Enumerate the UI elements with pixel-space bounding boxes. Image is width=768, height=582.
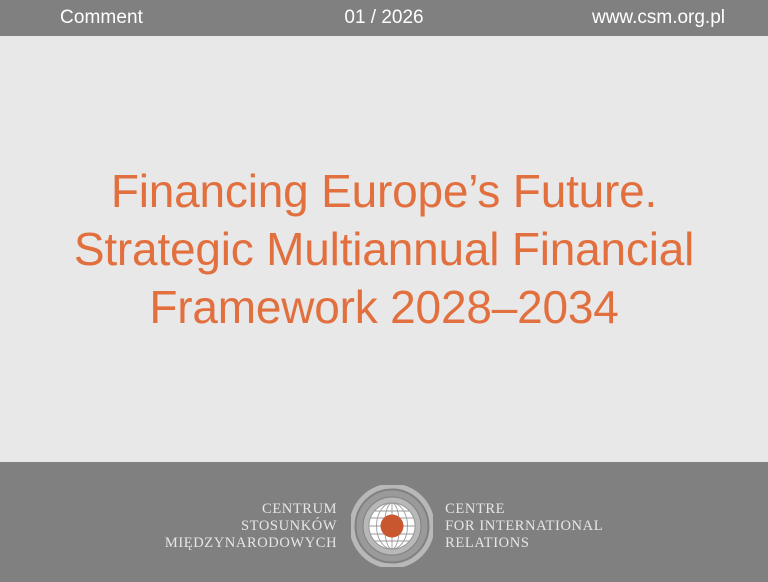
logo-text-polish: CENTRUM STOSUNKÓW MIĘDZYNARODOWYCH: [165, 501, 351, 552]
title-line-1: Financing Europe’s Future.: [0, 162, 768, 220]
slide-root: Comment 01 / 2026 www.csm.org.pl Financi…: [0, 0, 768, 582]
title-line-2: Strategic Multiannual Financial: [0, 220, 768, 278]
header-section-label: Comment: [60, 7, 143, 29]
globe-icon: [351, 485, 433, 567]
logo-text-english: CENTRE FOR INTERNATIONAL RELATIONS: [433, 501, 603, 552]
logo-polish-line-2: STOSUNKÓW: [165, 518, 337, 535]
page-title: Financing Europe’s Future. Strategic Mul…: [0, 162, 768, 336]
logo-english-line-1: CENTRE: [445, 501, 603, 518]
logo-polish-line-1: CENTRUM: [165, 501, 337, 518]
footer-bar: CENTRUM STOSUNKÓW MIĘDZYNARODOWYCH: [0, 462, 768, 582]
title-line-3: Framework 2028–2034: [0, 278, 768, 336]
slide-body: Financing Europe’s Future. Strategic Mul…: [0, 36, 768, 462]
logo-polish-line-3: MIĘDZYNARODOWYCH: [165, 535, 337, 552]
header-bar: Comment 01 / 2026 www.csm.org.pl: [0, 0, 768, 36]
logo-english-line-2: FOR INTERNATIONAL: [445, 518, 603, 535]
logo-english-line-3: RELATIONS: [445, 535, 603, 552]
organization-logo: CENTRUM STOSUNKÓW MIĘDZYNARODOWYCH: [165, 485, 603, 567]
header-website-label: www.csm.org.pl: [592, 7, 725, 29]
header-issue-label: 01 / 2026: [344, 7, 423, 29]
